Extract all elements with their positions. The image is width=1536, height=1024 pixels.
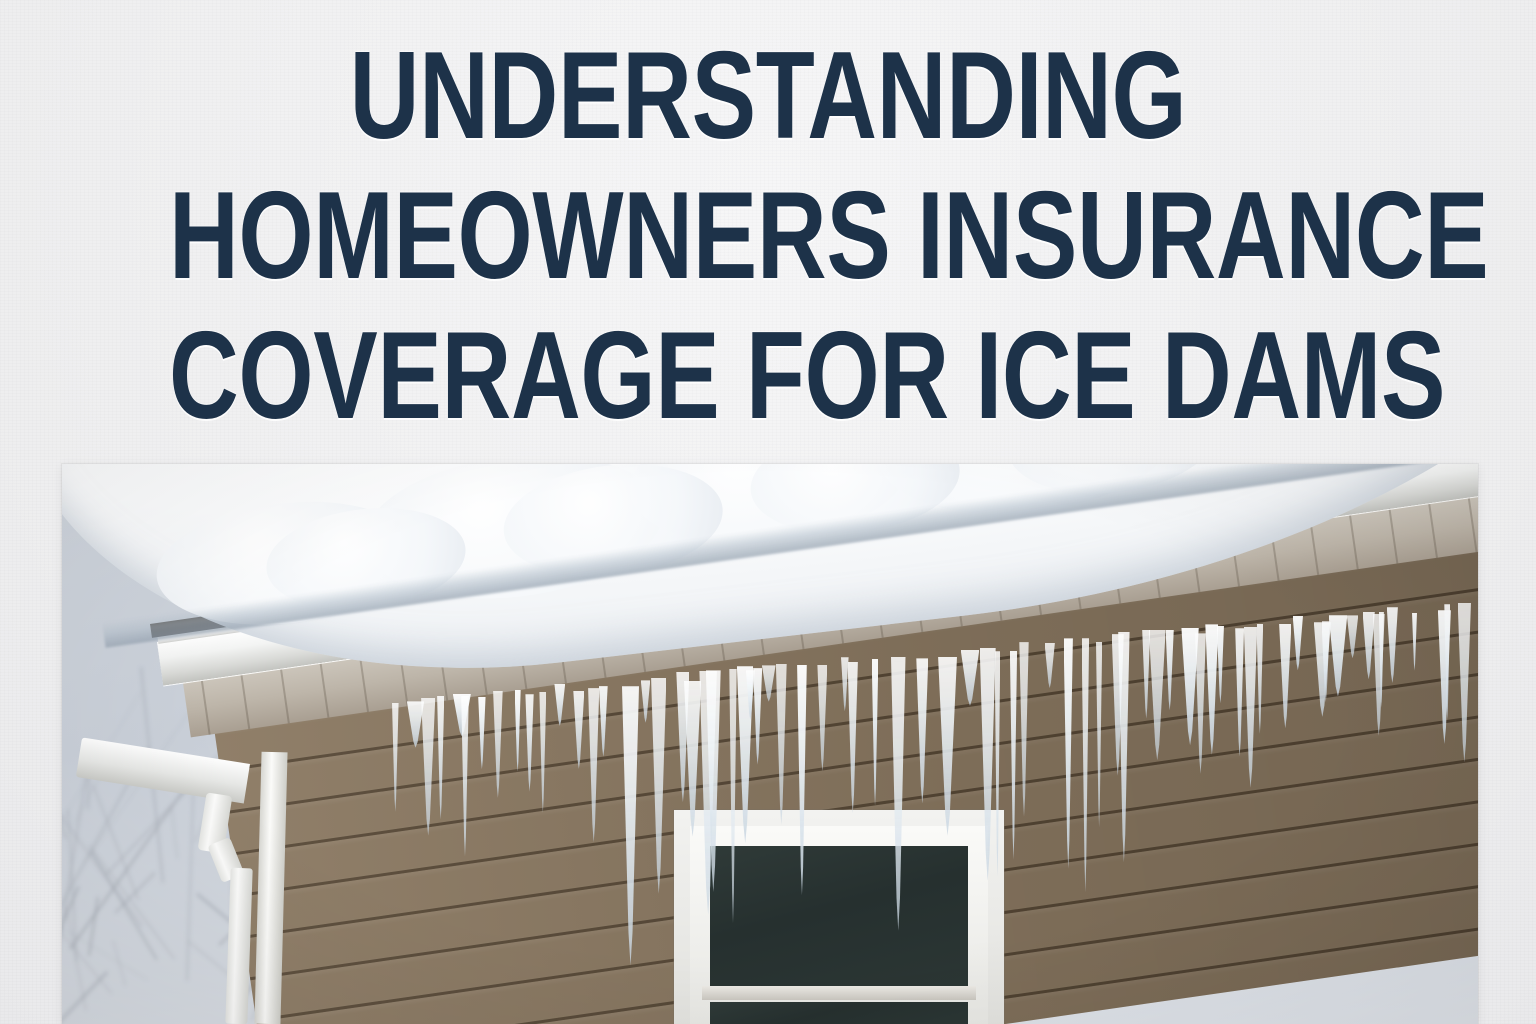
icicle bbox=[1347, 615, 1359, 658]
icicle bbox=[995, 651, 1001, 877]
icicle bbox=[1010, 651, 1017, 860]
icicle bbox=[1257, 624, 1264, 734]
icicle bbox=[1096, 642, 1102, 827]
icicle bbox=[916, 658, 928, 803]
icicle bbox=[1387, 607, 1398, 683]
icicle bbox=[515, 690, 521, 772]
icicle bbox=[1082, 638, 1090, 892]
hero-photo bbox=[62, 464, 1478, 1024]
page-title: UNDERSTANDING HOMEOWNERS INSURANCE COVER… bbox=[0, 34, 1536, 438]
icicle bbox=[1019, 642, 1028, 817]
icicle bbox=[421, 698, 435, 836]
icicle bbox=[1412, 613, 1417, 671]
icicle bbox=[1118, 632, 1129, 863]
icicle bbox=[641, 680, 651, 722]
icicle bbox=[1235, 628, 1244, 756]
icicle bbox=[776, 664, 787, 826]
headline-line-1: UNDERSTANDING bbox=[169, 34, 1367, 158]
icicle bbox=[1217, 626, 1224, 704]
icicle bbox=[841, 657, 849, 711]
icicle bbox=[493, 691, 503, 798]
icicle bbox=[753, 668, 762, 765]
poster-canvas: UNDERSTANDING HOMEOWNERS INSURANCE COVER… bbox=[0, 0, 1536, 1024]
headline-line-2: HOMEOWNERS INSURANCE bbox=[169, 174, 1367, 298]
icicle bbox=[817, 665, 827, 771]
icicle bbox=[588, 688, 599, 842]
icicle bbox=[848, 662, 858, 813]
icicle bbox=[478, 697, 485, 770]
icicle bbox=[539, 692, 546, 813]
icicle bbox=[651, 678, 666, 894]
icicle bbox=[1329, 615, 1348, 696]
icicle bbox=[1363, 612, 1375, 680]
icicle bbox=[461, 696, 469, 856]
icicle bbox=[437, 696, 444, 820]
icicle bbox=[1142, 630, 1150, 719]
icicle bbox=[1045, 643, 1055, 688]
icicle bbox=[622, 686, 639, 965]
icicle bbox=[891, 657, 906, 931]
icicle bbox=[1458, 603, 1471, 763]
icicle bbox=[1195, 633, 1206, 774]
icicle bbox=[1166, 630, 1174, 711]
icicle bbox=[1293, 616, 1303, 670]
icicle bbox=[1149, 630, 1166, 761]
icicle bbox=[872, 659, 879, 806]
icicle bbox=[525, 694, 533, 791]
icicle bbox=[1244, 627, 1258, 788]
icicle bbox=[797, 665, 807, 895]
icicle bbox=[1279, 624, 1291, 729]
icicle bbox=[599, 686, 608, 757]
icicle bbox=[573, 691, 584, 769]
icicle bbox=[684, 681, 701, 837]
icicle bbox=[1064, 638, 1073, 868]
icicle bbox=[762, 665, 776, 701]
icicle bbox=[729, 669, 736, 923]
icicle bbox=[554, 684, 565, 726]
icicle bbox=[1205, 624, 1218, 754]
icicle bbox=[938, 657, 957, 836]
headline-line-3: COVERAGE FOR ICE DAMS bbox=[169, 314, 1367, 438]
icicle bbox=[961, 650, 980, 706]
icicle bbox=[392, 703, 399, 812]
icicle bbox=[980, 648, 996, 881]
